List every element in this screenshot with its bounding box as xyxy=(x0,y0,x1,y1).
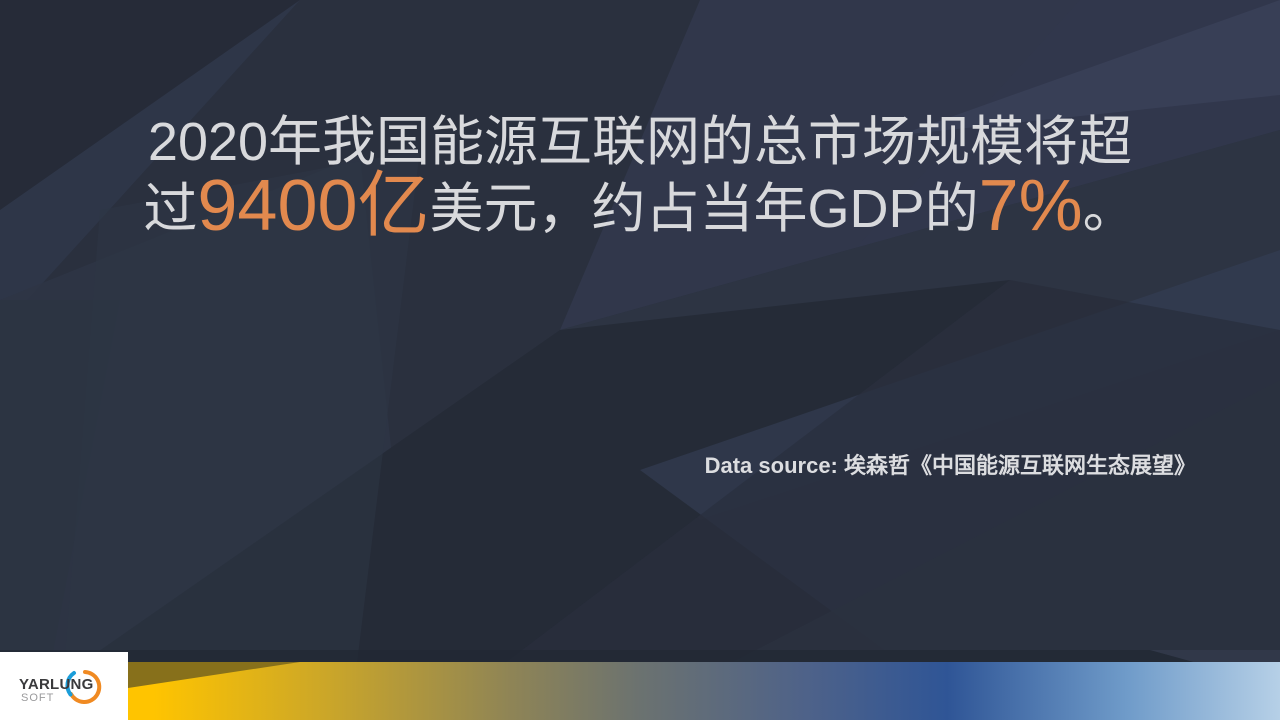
yarlung-soft-logo: YARLUNG SOFT xyxy=(10,663,118,709)
footer-wedge-top xyxy=(0,652,1280,720)
background-polygons xyxy=(0,0,1280,720)
footer-bar: YARLUNG SOFT xyxy=(0,652,1280,720)
logo-name-secondary: SOFT xyxy=(21,692,54,704)
headline-middle: 美元，约占当年GDP的 xyxy=(430,179,979,239)
slide-canvas: 2020年我国能源互联网的总市场规模将超 过9400亿美元，约占当年GDP的7%… xyxy=(0,0,1280,720)
logo-plate: YARLUNG SOFT xyxy=(0,652,128,720)
logo-name-primary: YARLUNG xyxy=(19,676,94,693)
headline-accent-amount: 9400亿 xyxy=(197,166,429,246)
headline-line-1: 2020年我国能源互联网的总市场规模将超 xyxy=(0,112,1280,172)
data-source-label: Data source: 埃森哲《中国能源互联网生态展望》 xyxy=(705,448,1196,480)
headline-suffix: 。 xyxy=(1083,179,1137,239)
headline-line-2: 过9400亿美元，约占当年GDP的7%。 xyxy=(0,178,1280,239)
headline: 2020年我国能源互联网的总市场规模将超 过9400亿美元，约占当年GDP的7%… xyxy=(0,112,1280,240)
headline-line-1-text: 2020年我国能源互联网的总市场规模将超 xyxy=(148,112,1132,172)
headline-prefix: 过 xyxy=(143,179,197,239)
headline-accent-percent: 7% xyxy=(979,166,1083,246)
